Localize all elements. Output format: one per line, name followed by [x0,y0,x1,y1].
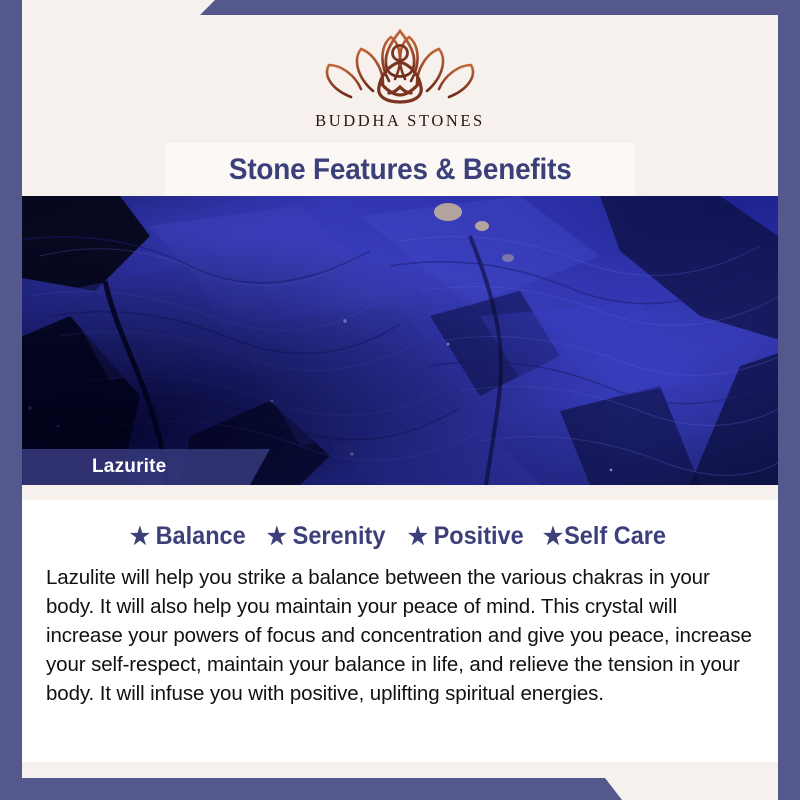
keyword-label: Serenity [293,522,386,551]
lotus-meditation-icon [315,25,485,107]
brand-header: BUDDHA STONES [22,15,778,145]
frame-top-accent [0,0,800,15]
title-banner: Stone Features & Benefits [165,143,635,196]
frame-bottom-accent [0,778,800,800]
page-title: Stone Features & Benefits [229,153,572,187]
keyword-positive: ★ Positive [407,522,523,551]
stone-name-label: Lazurite [92,456,166,478]
keyword-label: Self Care [564,522,666,551]
star-icon: ★ [130,525,150,549]
stone-name-bar: Lazurite [22,449,270,485]
star-icon: ★ [267,525,287,549]
stone-info-poster: BUDDHA STONES Stone Features & Benefits … [0,0,800,800]
lazurite-stone-photo [0,196,800,485]
frame-right-accent [778,0,800,800]
keyword-list: ★ Balance ★ Serenity ★ Positive ★ Self C… [36,522,760,551]
brand-name: BUDDHA STONES [315,111,485,131]
keyword-balance: ★ Balance [130,522,246,551]
keyword-serenity: ★ Serenity [267,522,386,551]
keyword-label: Balance [156,522,246,551]
keyword-label: Positive [433,522,523,551]
keyword-self-care: ★ Self Care [543,522,666,551]
stone-description: Lazulite will help you strike a balance … [36,563,760,709]
star-icon: ★ [407,525,427,549]
content-panel: ★ Balance ★ Serenity ★ Positive ★ Self C… [22,500,778,762]
star-icon: ★ [543,525,563,549]
frame-left-accent [0,0,22,800]
